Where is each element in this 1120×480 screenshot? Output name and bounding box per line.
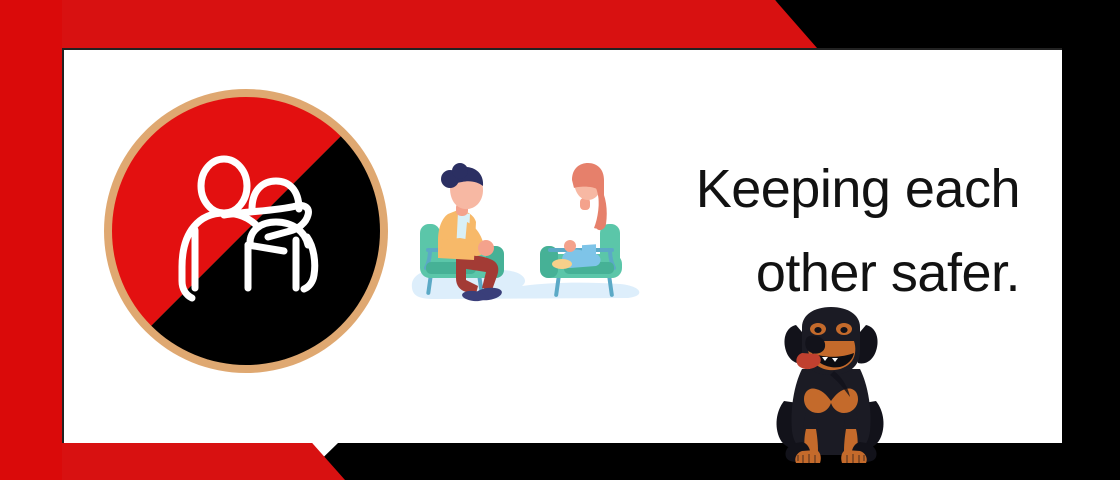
page-title: Keeping each other safer. (600, 148, 1020, 315)
rottweiler-dog-illustration (772, 305, 890, 470)
headline-line-2: other safer. (600, 232, 1020, 316)
black-block-bottom-fill (338, 443, 1120, 480)
red-column-left-bottom (0, 418, 62, 480)
dog-eye-left (814, 327, 821, 333)
safety-banner: Keeping each other safer. (0, 0, 1120, 480)
child-figure (552, 163, 607, 269)
red-column-left (0, 0, 62, 480)
dog-eye-right (840, 327, 847, 333)
headline-line-1: Keeping each (600, 148, 1020, 232)
two-people-embrace-logo (100, 85, 392, 377)
red-band-top-fill (62, 0, 775, 48)
